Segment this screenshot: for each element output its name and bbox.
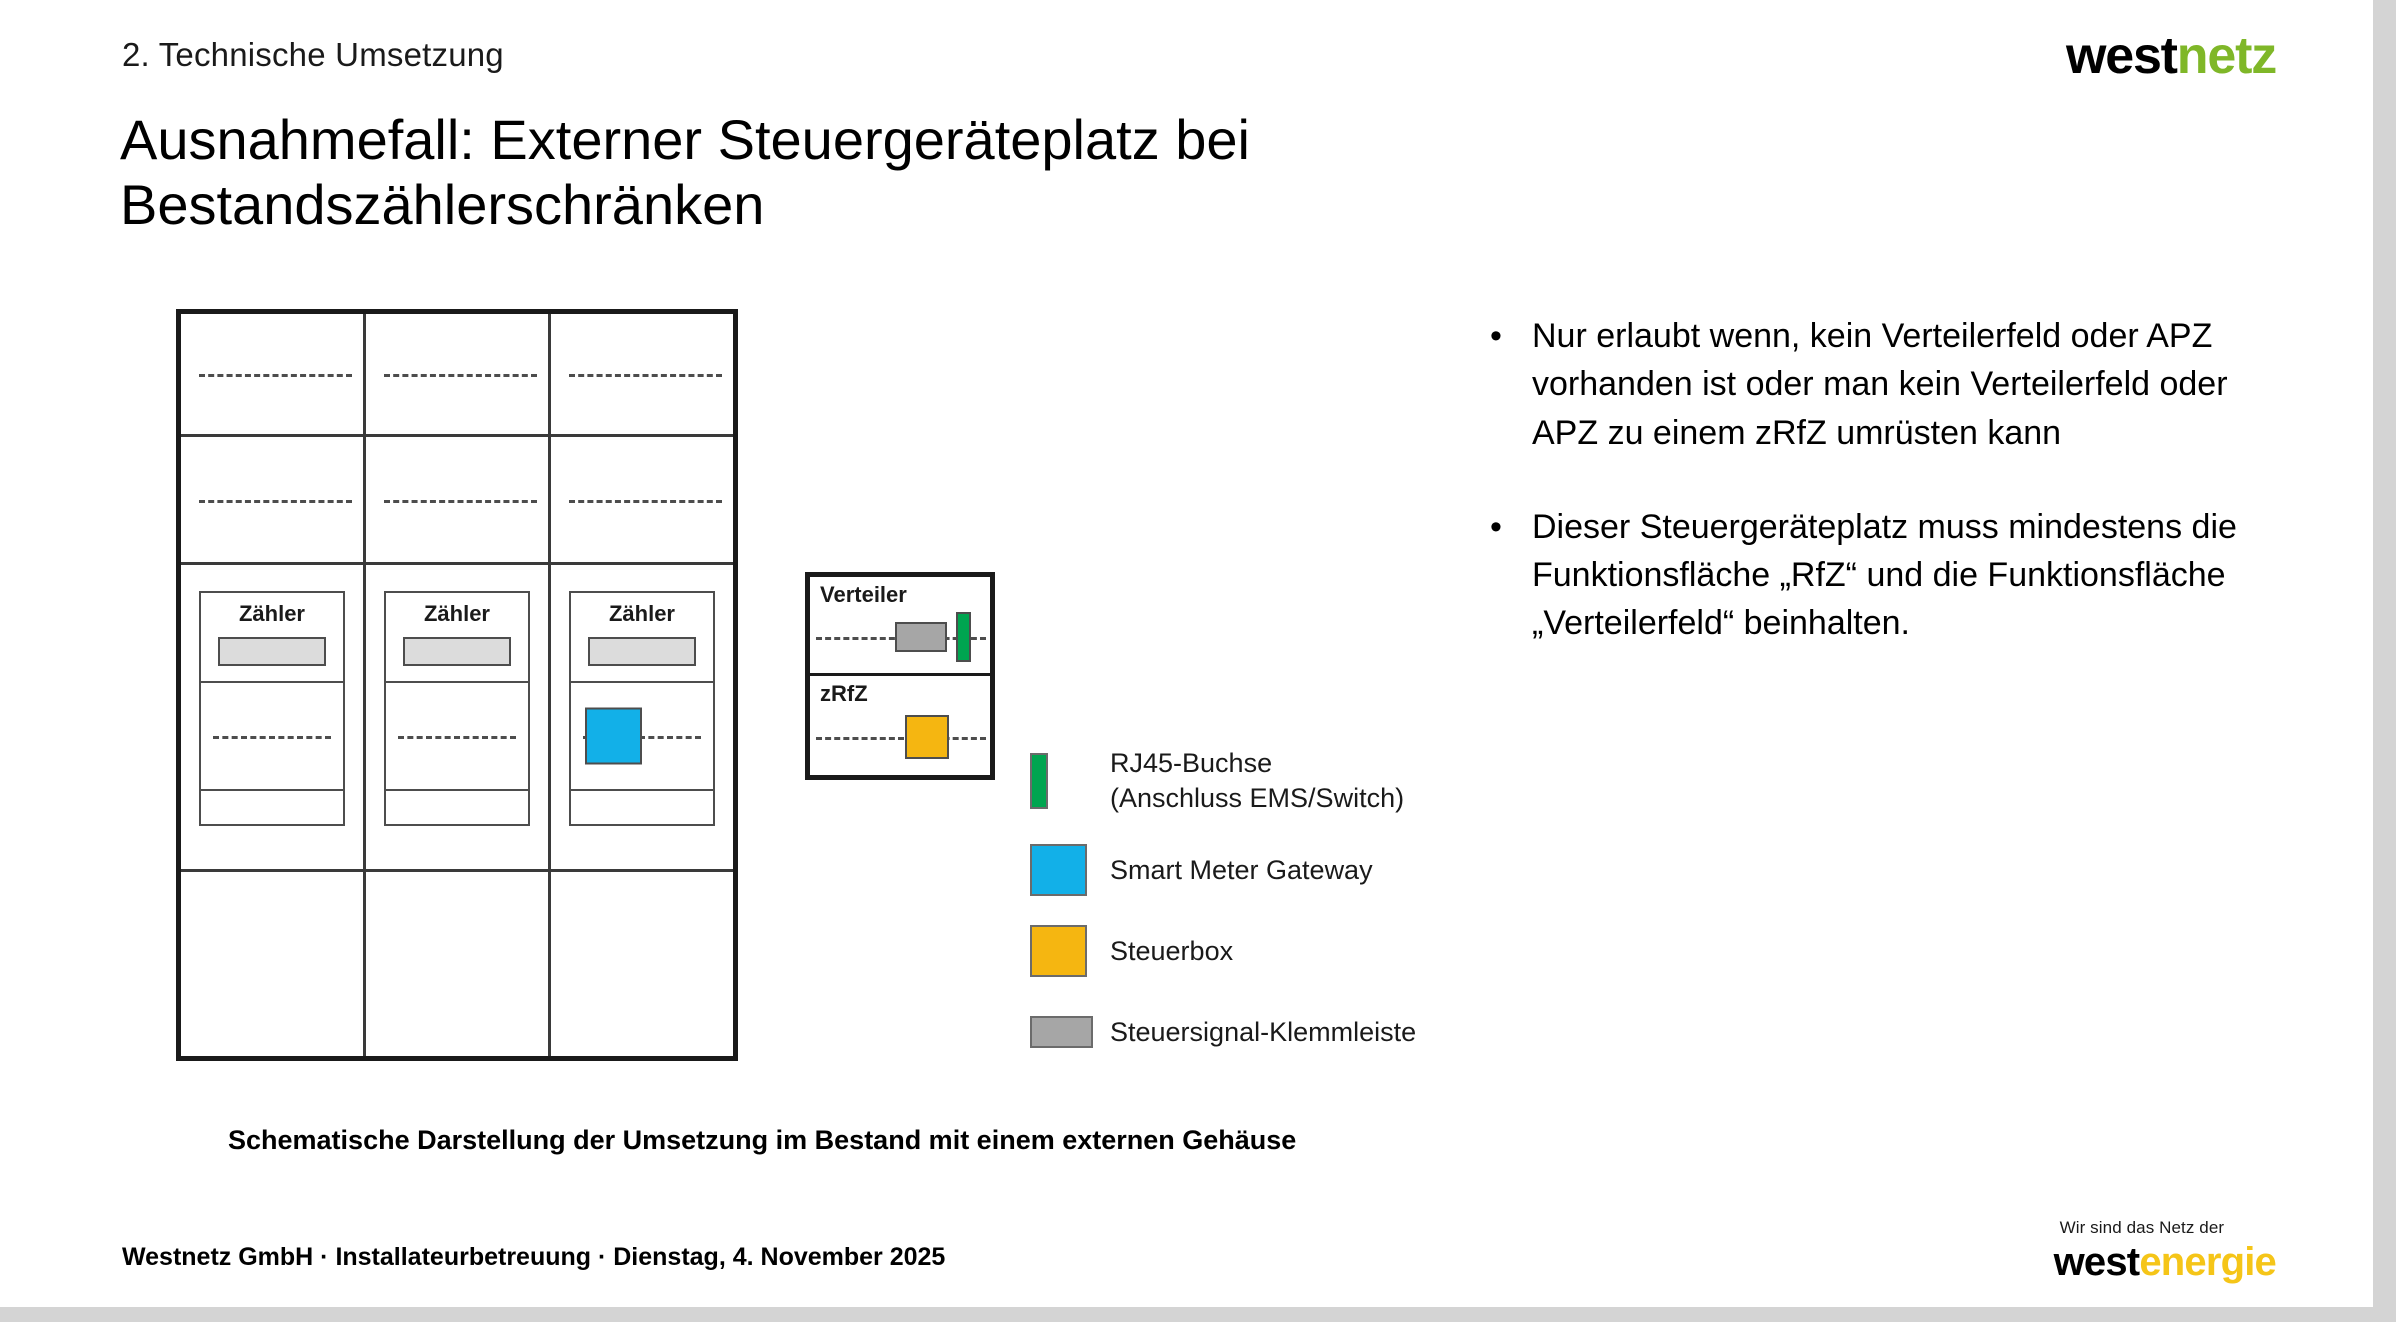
bullet-item-2: • Dieser Steuergeräteplatz muss mindeste… [1490,503,2250,648]
smart-meter-gateway-swatch-icon [1030,844,1087,896]
legend-item-smart-meter-gateway: Smart Meter Gateway [1030,844,1630,896]
steuerbox-swatch-icon [1030,925,1087,977]
westenergie-wordmark-part2: energie [2139,1240,2276,1284]
dashed-rail [384,500,537,503]
dashed-rail [384,374,537,377]
legend-label-rj45-line2: (Anschluss EMS/Switch) [1110,781,1404,816]
meter-display [218,637,326,666]
meter-module-1-head: Zähler [201,593,343,683]
cabinet-cell-r3c2: Zähler [366,565,551,869]
steuersignal-klemmleiste-block [895,622,947,652]
cabinet-cell-r2c2 [366,437,551,562]
meter-cabinet-diagram: Zähler Zähler [176,309,738,1061]
bullet-item-1: • Nur erlaubt wenn, kein Verteilerfeld o… [1490,312,2250,457]
cabinet-cell-r4c1 [181,872,366,1056]
page-edge-band-right [2373,0,2396,1322]
meter-label: Zähler [386,601,528,627]
cabinet-cell-r2c1 [181,437,366,562]
rj45-jack-swatch-icon [1030,753,1048,809]
meter-module-2: Zähler [384,591,530,826]
meter-module-3-head: Zähler [571,593,713,683]
legend-swatch-wrap [1030,844,1110,896]
housing-label-zrfz: zRfZ [820,681,868,707]
bullet-marker: • [1490,312,1532,457]
cabinet-cell-r1c1 [181,314,366,434]
westenergie-wordmark: westenergie [2054,1240,2276,1284]
legend-label-smart-meter-gateway: Smart Meter Gateway [1110,853,1373,888]
dashed-rail [569,500,722,503]
meter-module-1: Zähler [199,591,345,826]
cabinet-row-3-meters: Zähler Zähler [181,565,733,872]
housing-compartment-zrfz: zRfZ [810,676,990,775]
cabinet-row-2 [181,437,733,565]
legend-item-steuerbox: Steuerbox [1030,925,1630,977]
westnetz-logo-part2: netz [2177,27,2276,85]
dashed-rail [213,736,332,739]
meter-module-3-foot [571,791,713,824]
dashed-rail [199,374,352,377]
legend-swatch-wrap [1030,925,1110,977]
cabinet-cell-r4c3 [551,872,733,1056]
meter-module-2-body [386,683,528,791]
westnetz-logo: westnetz [2066,30,2276,82]
meter-display [403,637,511,666]
page-edge-band-bottom [0,1307,2396,1322]
cabinet-cell-r2c3 [551,437,733,562]
meter-module-2-head: Zähler [386,593,528,683]
legend-label-klemmleiste: Steuersignal-Klemmleiste [1110,1015,1416,1050]
dashed-rail [398,736,517,739]
westnetz-logo-part1: west [2066,27,2177,85]
westenergie-claim: Wir sind das Netz der [2054,1219,2276,1236]
klemmleiste-swatch-icon [1030,1016,1093,1048]
meter-module-1-foot [201,791,343,824]
legend-label-rj45: RJ45-Buchse (Anschluss EMS/Switch) [1110,746,1404,815]
dashed-rail [199,500,352,503]
bullet-text-2: Dieser Steuergeräteplatz muss mindestens… [1532,503,2250,648]
cabinet-cell-r1c3 [551,314,733,434]
westenergie-logo: Wir sind das Netz der westenergie [2054,1219,2276,1282]
meter-display [588,637,696,666]
legend-swatch-wrap [1030,1016,1110,1048]
section-kicker: 2. Technische Umsetzung [122,36,504,74]
steuerbox-block [905,715,949,759]
meter-module-1-body [201,683,343,791]
legend-item-klemmleiste: Steuersignal-Klemmleiste [1030,1006,1630,1058]
cabinet-cell-r3c1: Zähler [181,565,366,869]
smart-meter-gateway-block [585,708,642,765]
dashed-rail [569,374,722,377]
cabinet-cell-r3c3: Zähler [551,565,733,869]
rj45-jack-block [956,612,971,662]
dashed-rail [816,737,986,740]
bullet-text-1: Nur erlaubt wenn, kein Verteilerfeld ode… [1532,312,2250,457]
bullet-marker: • [1490,503,1532,648]
meter-label: Zähler [201,601,343,627]
bullet-list: • Nur erlaubt wenn, kein Verteilerfeld o… [1490,312,2250,694]
westenergie-wordmark-part1: west [2054,1240,2140,1284]
external-housing-diagram: Verteiler zRfZ [805,572,995,780]
legend-swatch-wrap [1030,753,1110,809]
cabinet-cell-r4c2 [366,872,551,1056]
housing-compartment-verteiler: Verteiler [810,577,990,676]
meter-module-3: Zähler [569,591,715,826]
legend-item-rj45: RJ45-Buchse (Anschluss EMS/Switch) [1030,746,1630,815]
legend-label-steuerbox: Steuerbox [1110,934,1233,969]
legend-label-rj45-line1: RJ45-Buchse [1110,746,1404,781]
cabinet-row-4 [181,872,733,1056]
meter-module-2-foot [386,791,528,824]
footer-text: Westnetz GmbH · Installateurbetreuung · … [122,1243,945,1272]
cabinet-cell-r1c2 [366,314,551,434]
page-title: Ausnahmefall: Externer Steuergeräteplatz… [120,108,1480,238]
diagram-legend: RJ45-Buchse (Anschluss EMS/Switch) Smart… [1030,746,1630,1087]
cabinet-row-1 [181,314,733,437]
meter-module-3-body [571,683,713,791]
slide-canvas: 2. Technische Umsetzung Ausnahmefall: Ex… [0,0,2396,1322]
housing-label-verteiler: Verteiler [820,582,907,608]
diagram-caption: Schematische Darstellung der Umsetzung i… [228,1125,1296,1156]
meter-label: Zähler [571,601,713,627]
